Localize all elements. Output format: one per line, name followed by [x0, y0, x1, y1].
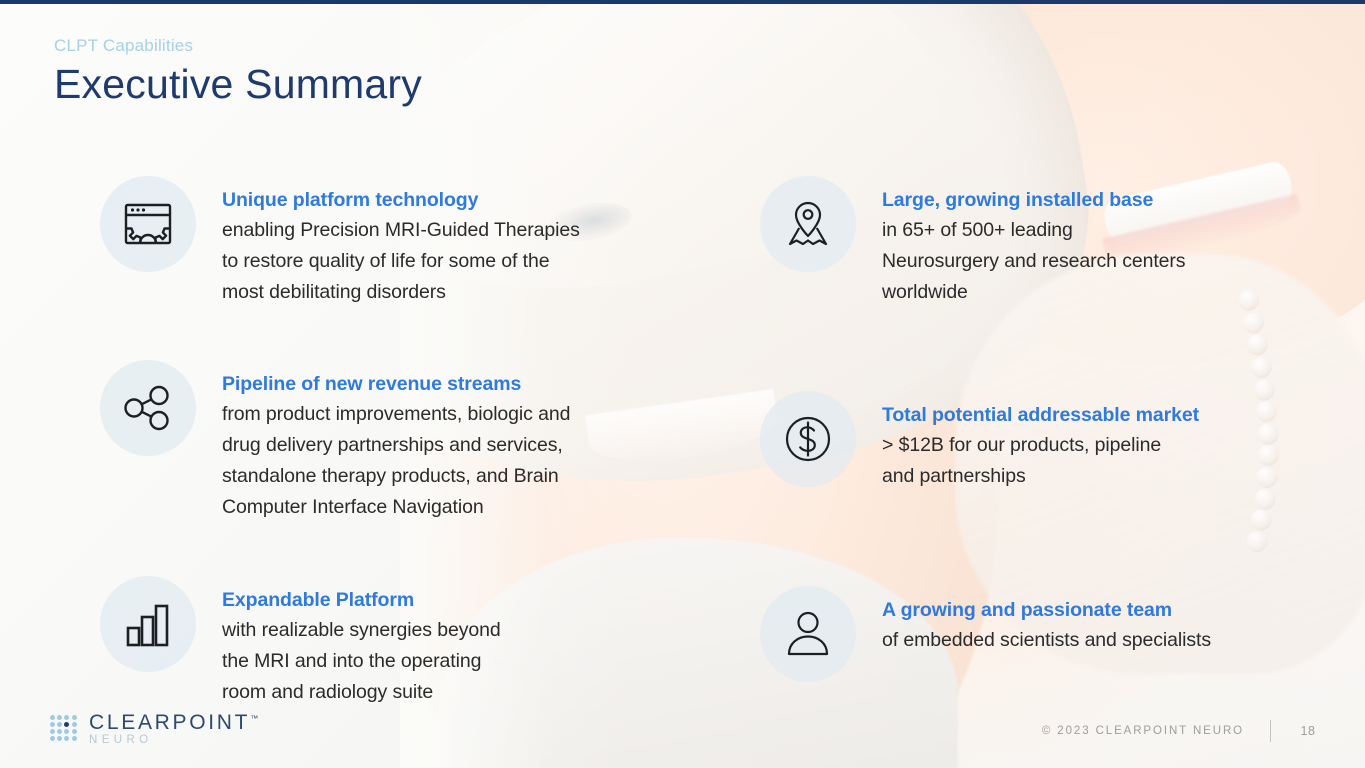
- feature-text: A growing and passionate team of embedde…: [856, 586, 1211, 656]
- feature-item: Large, growing installed base in 65+ of …: [760, 176, 1185, 308]
- slide-footer: © 2023 CLEARPOINT NEURO 18: [1042, 720, 1317, 742]
- feature-heading: A growing and passionate team: [882, 596, 1211, 624]
- map-pin-icon: [760, 176, 856, 272]
- feature-text: Unique platform technology enabling Prec…: [196, 176, 580, 308]
- feature-body: of embedded scientists and specialists: [882, 625, 1211, 656]
- bar-chart-icon: [100, 576, 196, 672]
- feature-text: Pipeline of new revenue streams from pro…: [196, 360, 570, 522]
- browser-gear-icon: [100, 176, 196, 272]
- feature-body: from product improvements, biologic and …: [222, 399, 570, 522]
- feature-item: Expandable Platform with realizable syne…: [100, 576, 501, 708]
- logo-name: CLEARPOINT™: [89, 712, 258, 733]
- logo-subtitle: NEURO: [89, 735, 258, 747]
- feature-text: Expandable Platform with realizable syne…: [196, 576, 501, 708]
- eyebrow-label: CLPT Capabilities: [54, 36, 422, 56]
- logo-trademark: ™: [250, 714, 258, 723]
- person-icon: [760, 586, 856, 682]
- dollar-circle-icon: [760, 391, 856, 487]
- page-title: Executive Summary: [54, 60, 422, 109]
- feature-body: in 65+ of 500+ leading Neurosurgery and …: [882, 215, 1185, 307]
- clearpoint-logo: CLEARPOINT™ NEURO: [50, 712, 258, 747]
- page-number: 18: [1299, 724, 1317, 738]
- feature-body: with realizable synergies beyond the MRI…: [222, 615, 501, 707]
- logo-dot-grid-icon: [50, 715, 80, 743]
- feature-heading: Total potential addressable market: [882, 401, 1199, 429]
- feature-item: Total potential addressable market > $12…: [760, 391, 1199, 492]
- feature-body: enabling Precision MRI-Guided Therapies …: [222, 215, 580, 307]
- share-network-icon: [100, 360, 196, 456]
- footer-divider: [1270, 720, 1271, 742]
- feature-heading: Large, growing installed base: [882, 186, 1185, 214]
- feature-heading: Pipeline of new revenue streams: [222, 370, 570, 398]
- logo-name-text: CLEARPOINT: [89, 711, 250, 734]
- slide: CLPT Capabilities Executive Summary Uniq…: [0, 0, 1365, 768]
- feature-item: A growing and passionate team of embedde…: [760, 586, 1211, 682]
- feature-heading: Expandable Platform: [222, 586, 501, 614]
- logo-wordmark: CLEARPOINT™ NEURO: [89, 712, 258, 747]
- slide-header: CLPT Capabilities Executive Summary: [54, 36, 422, 110]
- copyright-text: © 2023 CLEARPOINT NEURO: [1042, 725, 1244, 737]
- top-accent-rule: [0, 0, 1365, 4]
- feature-body: > $12B for our products, pipeline and pa…: [882, 430, 1199, 492]
- feature-text: Large, growing installed base in 65+ of …: [856, 176, 1185, 308]
- feature-item: Pipeline of new revenue streams from pro…: [100, 360, 570, 522]
- feature-item: Unique platform technology enabling Prec…: [100, 176, 580, 308]
- feature-heading: Unique platform technology: [222, 186, 580, 214]
- feature-text: Total potential addressable market > $12…: [856, 391, 1199, 492]
